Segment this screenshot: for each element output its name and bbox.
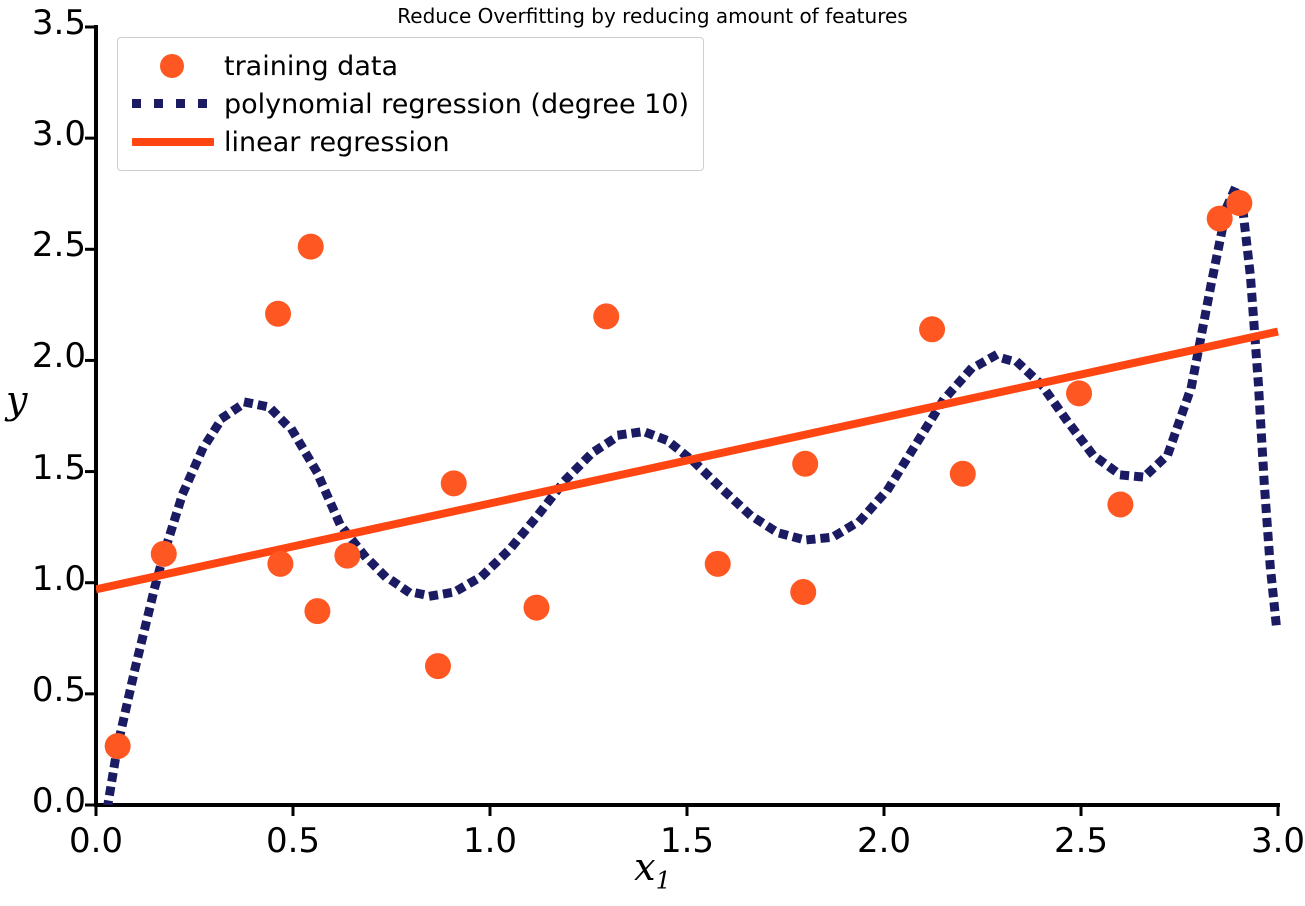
series-group: [96, 189, 1278, 805]
y-axis-tick-label: 2.5: [0, 225, 86, 265]
training-data-point[interactable]: [1066, 380, 1092, 406]
legend-item-linear-regression[interactable]: linear regression: [130, 123, 689, 161]
y-axis-tick-label: 3.5: [0, 3, 86, 43]
training-data-point[interactable]: [1107, 491, 1133, 517]
training-data-point[interactable]: [425, 653, 451, 679]
x-axis-tick-label: 0.5: [233, 821, 353, 861]
training-data-point[interactable]: [334, 543, 360, 569]
training-data-point[interactable]: [304, 598, 330, 624]
x-axis-tick-label: 2.5: [1021, 821, 1141, 861]
training-data-point[interactable]: [705, 551, 731, 577]
y-axis-tick-label: 0.0: [0, 781, 86, 821]
polynomial-regression-line: [108, 189, 1276, 805]
x-axis-label-subscript: 1: [656, 867, 671, 895]
y-axis-label: y: [6, 378, 27, 422]
chart-legend: training data polynomial regression (deg…: [117, 37, 704, 171]
legend-item-polynomial-regression[interactable]: polynomial regression (degree 10): [130, 85, 689, 123]
y-axis-tick-label: 1.0: [0, 559, 86, 599]
x-axis-tick-label: 1.5: [627, 821, 747, 861]
legend-item-training-data[interactable]: training data: [130, 47, 689, 85]
training-data-point[interactable]: [919, 316, 945, 342]
polynomial-regression-dotted-line-icon: [130, 94, 216, 114]
y-axis-tick-label: 1.5: [0, 448, 86, 488]
training-data-point[interactable]: [792, 451, 818, 477]
legend-label-linear-regression: linear regression: [224, 127, 450, 158]
y-axis-tick-label: 2.0: [0, 336, 86, 376]
training-data-point[interactable]: [593, 303, 619, 329]
training-data-point[interactable]: [265, 301, 291, 327]
training-data-point[interactable]: [1226, 190, 1252, 216]
training-data-point[interactable]: [267, 551, 293, 577]
x-axis-tick-label: 0.0: [36, 821, 156, 861]
x-axis-tick-label: 3.0: [1218, 821, 1305, 861]
legend-label-training-data: training data: [224, 51, 398, 82]
training-data-point[interactable]: [105, 733, 131, 759]
training-data-point[interactable]: [441, 470, 467, 496]
legend-label-polynomial-regression: polynomial regression (degree 10): [224, 89, 689, 120]
y-axis-tick-label: 3.0: [0, 114, 86, 154]
x-axis-tick-label: 2.0: [824, 821, 944, 861]
training-data-point[interactable]: [151, 541, 177, 567]
linear-regression-solid-line-icon: [130, 132, 216, 152]
training-data-point[interactable]: [950, 461, 976, 487]
x-axis-tick-label: 1.0: [430, 821, 550, 861]
training-data-marker-icon: [130, 56, 216, 76]
y-axis-tick-label: 0.5: [0, 670, 86, 710]
training-data-point[interactable]: [523, 595, 549, 621]
training-data-point[interactable]: [790, 579, 816, 605]
chart-figure: Reduce Overfitting by reducing amount of…: [0, 0, 1305, 906]
training-data-point[interactable]: [298, 234, 324, 260]
